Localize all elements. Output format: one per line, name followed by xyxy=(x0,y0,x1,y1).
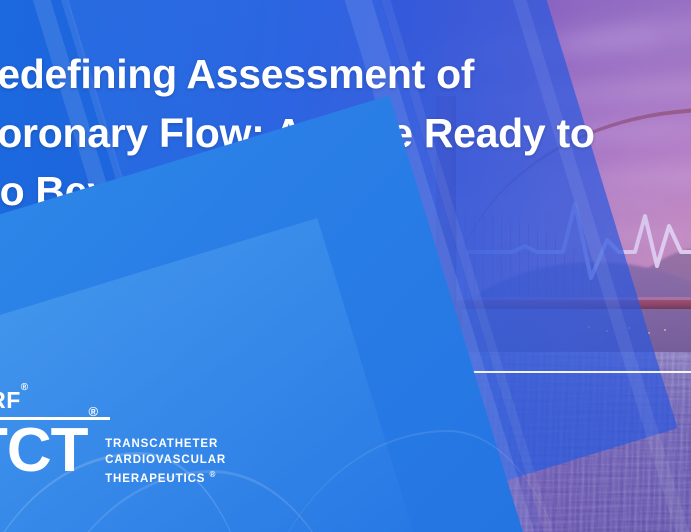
tct-text: TCT xyxy=(0,416,88,485)
tct-subtitle-line-1: TRANSCATHETER xyxy=(105,436,226,452)
registered-mark-icon: ® xyxy=(210,470,217,479)
registered-mark-icon: ® xyxy=(89,404,98,419)
tct-subtitle-line-2: CARDIOVASCULAR xyxy=(105,452,226,468)
tct-subtitle-line-3: THERAPEUTICS xyxy=(105,472,205,484)
tct-subtitle: TRANSCATHETER CARDIOVASCULAR THERAPEUTIC… xyxy=(105,436,226,487)
presentation-slide: Redefining Assessment of Coronary Flow: … xyxy=(0,0,691,532)
crf-wordmark: CRF® xyxy=(0,389,228,412)
tct-wordmark: TCT® xyxy=(0,422,96,479)
tct-crf-logo-lockup: CRF® TCT® TRANSCATHETER CARDIOVASCULAR T… xyxy=(0,389,226,487)
registered-mark-icon: ® xyxy=(21,382,29,393)
crf-text: CRF xyxy=(0,387,21,413)
tct-subtitle-line-3-wrap: THERAPEUTICS ® xyxy=(105,469,226,487)
title-line-1: Redefining Assessment of xyxy=(0,45,691,104)
